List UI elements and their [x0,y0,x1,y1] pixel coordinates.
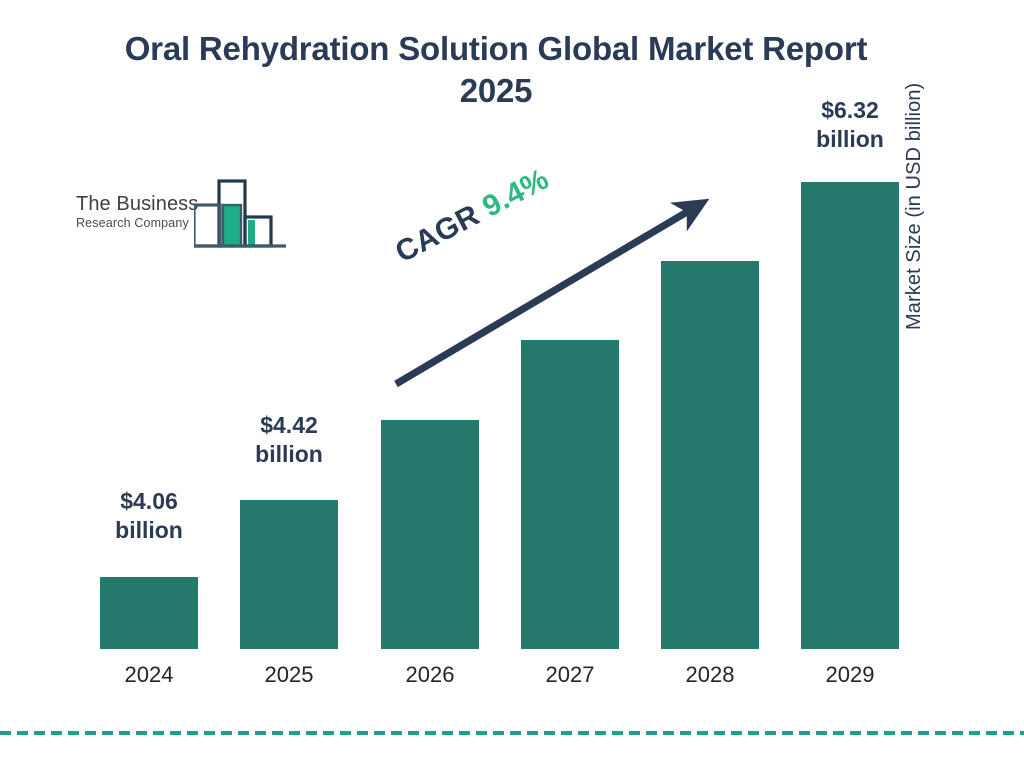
footer-divider [0,731,1024,735]
bar-value-unit-2029: billion [816,126,884,152]
x-axis-tick-2027: 2027 [505,662,635,688]
x-axis-tick-2025: 2025 [224,662,354,688]
x-axis-tick-2028: 2028 [645,662,775,688]
bar-2026 [381,420,479,649]
bar-value-amount-2025: $4.42 [260,412,318,438]
bar-value-amount-2024: $4.06 [120,488,178,514]
bar-value-label-2024: $4.06 billion [79,487,219,545]
x-axis-tick-2029: 2029 [785,662,915,688]
bar-2025 [240,500,338,649]
x-axis-tick-2026: 2026 [365,662,495,688]
bar-value-unit-2025: billion [255,441,323,467]
bar-value-unit-2024: billion [115,517,183,543]
bar-value-label-2029: $6.32 billion [780,96,920,154]
y-axis-title: Market Size (in USD billion) [903,0,926,330]
chart-canvas: Oral Rehydration Solution Global Market … [0,0,1024,768]
x-axis-tick-2024: 2024 [84,662,214,688]
bar-value-amount-2029: $6.32 [821,97,879,123]
bar-value-label-2025: $4.42 billion [219,411,359,469]
bar-2029 [801,182,899,649]
bar-2024 [100,577,198,649]
